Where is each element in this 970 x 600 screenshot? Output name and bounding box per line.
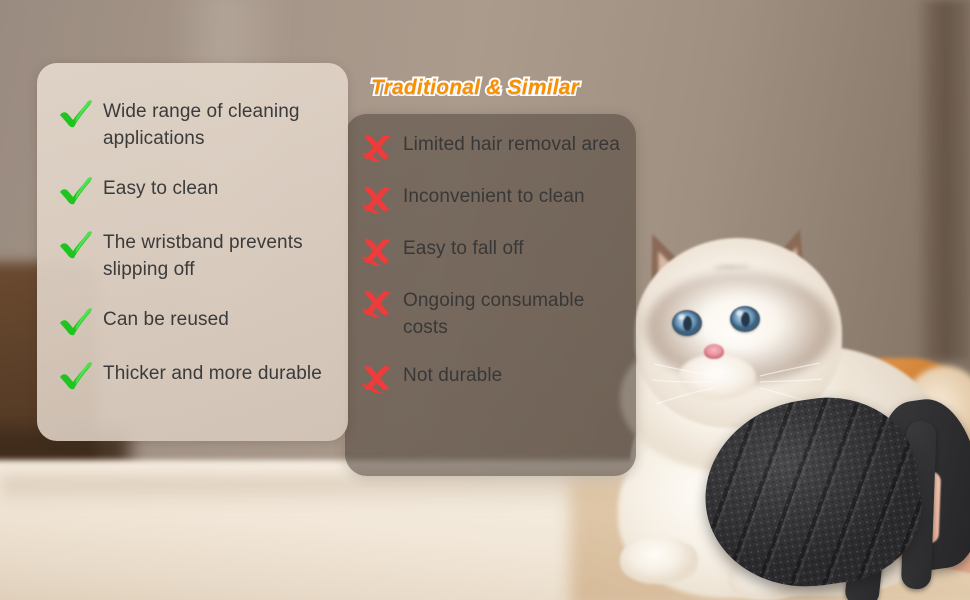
cat-nose — [704, 344, 724, 359]
list-item: Easy to fall off — [361, 234, 628, 266]
list-item-label: Limited hair removal area — [403, 130, 620, 158]
red-x-icon — [361, 288, 393, 318]
cat-eye-glint-right — [736, 310, 743, 316]
list-item-label: The wristband prevents slipping off — [103, 228, 336, 283]
red-x-icon — [361, 363, 393, 393]
cat-eye-left — [672, 310, 702, 336]
cons-list: Limited hair removal area Inconvenient t… — [361, 130, 628, 413]
cons-panel-title: Traditional & Similar — [371, 76, 579, 100]
list-item-label: Easy to clean — [103, 174, 218, 202]
list-item: Limited hair removal area — [361, 130, 628, 162]
list-item: Not durable — [361, 361, 628, 393]
infographic-canvas: Limited hair removal area Inconvenient t… — [0, 0, 970, 600]
list-item: Inconvenient to clean — [361, 182, 628, 214]
red-x-icon — [361, 132, 393, 162]
list-item-label: Inconvenient to clean — [403, 182, 585, 210]
list-item-label: Can be reused — [103, 305, 229, 333]
green-check-icon — [59, 307, 93, 337]
list-item-label: Not durable — [403, 361, 502, 389]
green-check-icon — [59, 176, 93, 206]
list-item-label: Ongoing consumable costs — [403, 286, 628, 341]
pros-panel: Wide range of cleaning applications Easy… — [37, 63, 348, 441]
cat-forehead-stripes — [698, 266, 772, 308]
list-item-label: Wide range of cleaning applications — [103, 97, 336, 152]
list-item: Can be reused — [59, 305, 336, 337]
list-item: The wristband prevents slipping off — [59, 228, 336, 283]
green-check-icon — [59, 99, 93, 129]
cat-paw-left — [620, 538, 698, 584]
list-item: Ongoing consumable costs — [361, 286, 628, 341]
grooming-glove — [693, 378, 970, 600]
pros-list: Wide range of cleaning applications Easy… — [59, 97, 336, 413]
cat-eye-glint-left — [678, 314, 685, 320]
cons-panel: Limited hair removal area Inconvenient t… — [345, 114, 636, 476]
red-x-icon — [361, 184, 393, 214]
list-item: Easy to clean — [59, 174, 336, 206]
list-item-label: Thicker and more durable — [103, 359, 322, 387]
list-item: Wide range of cleaning applications — [59, 97, 336, 152]
cat-whiskers — [652, 360, 822, 406]
list-item-label: Easy to fall off — [403, 234, 524, 262]
red-x-icon — [361, 236, 393, 266]
green-check-icon — [59, 230, 93, 260]
cat-eye-right — [730, 306, 760, 332]
list-item: Thicker and more durable — [59, 359, 336, 391]
green-check-icon — [59, 361, 93, 391]
